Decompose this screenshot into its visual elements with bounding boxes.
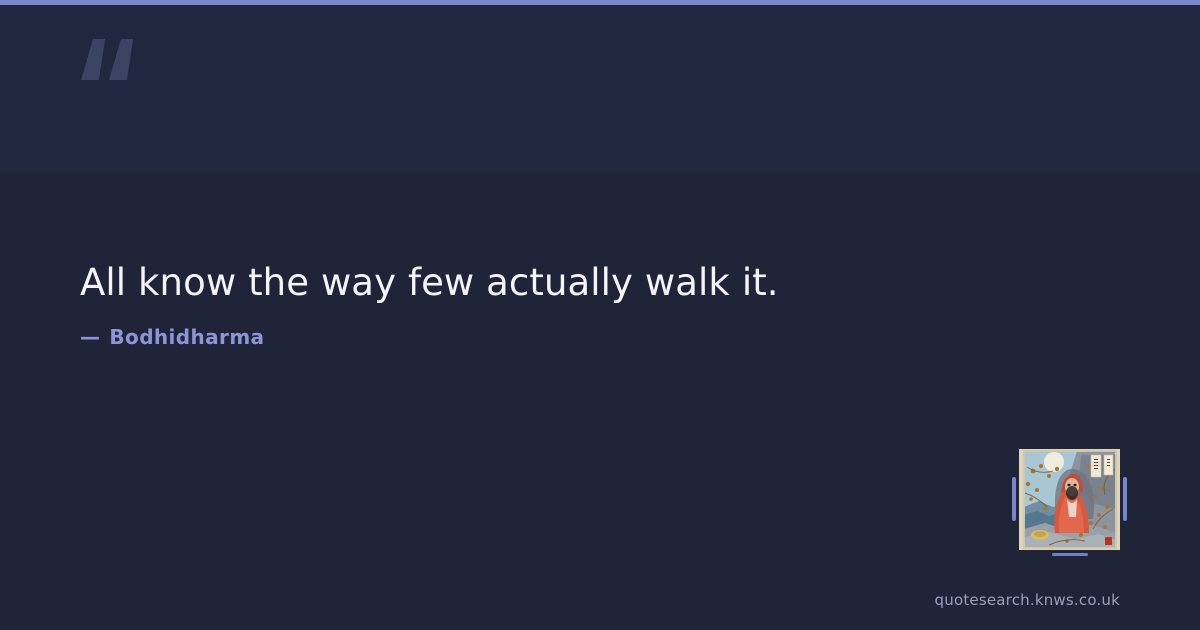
thumbnail-frame-left-accent bbox=[1012, 477, 1016, 521]
thumbnail-frame-right-accent bbox=[1123, 477, 1127, 521]
quote-attribution: — Bodhidharma bbox=[80, 325, 264, 349]
author-thumbnail[interactable] bbox=[1019, 449, 1120, 550]
author-portrait-image bbox=[1019, 449, 1120, 550]
thumbnail-link-underline[interactable] bbox=[1052, 553, 1088, 556]
footer-site-url[interactable]: quotesearch.knws.co.uk bbox=[935, 591, 1120, 609]
attribution-author: Bodhidharma bbox=[109, 325, 264, 349]
quotation-mark-icon bbox=[79, 30, 139, 88]
quote-text: All know the way few actually walk it. bbox=[80, 259, 1120, 307]
attribution-dash: — bbox=[80, 325, 100, 349]
top-accent-bar bbox=[0, 0, 1200, 5]
background-band bbox=[0, 0, 1200, 172]
quote-card: All know the way few actually walk it. —… bbox=[0, 0, 1200, 630]
